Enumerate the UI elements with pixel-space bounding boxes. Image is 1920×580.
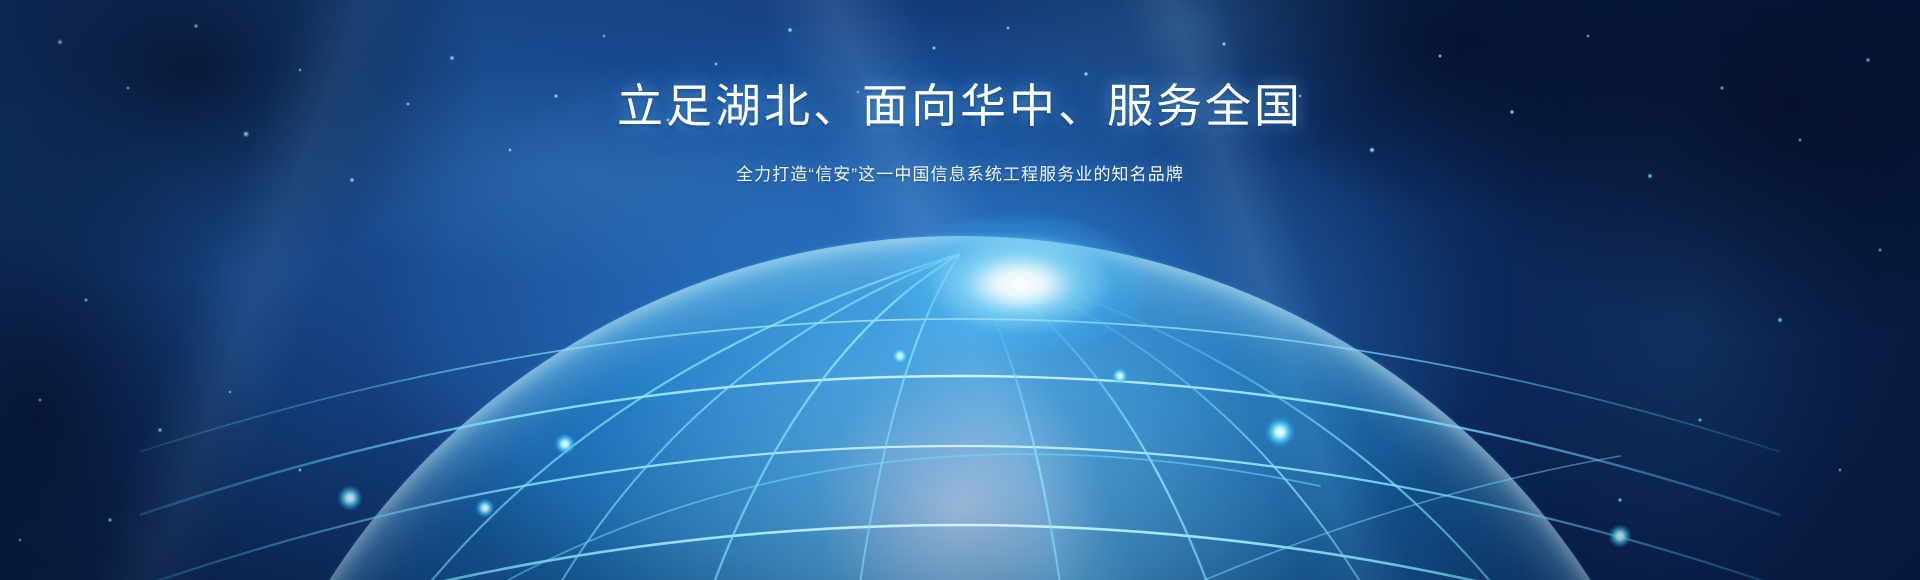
light-burst — [890, 214, 1150, 354]
banner-headline: 立足湖北、面向华中、服务全国 — [0, 78, 1920, 136]
network-arc — [140, 446, 1780, 580]
network-node — [554, 433, 576, 455]
network-arc — [400, 456, 1620, 580]
network-node — [1608, 524, 1632, 548]
network-node — [891, 347, 909, 365]
network-node — [337, 485, 363, 511]
network-node — [475, 498, 495, 518]
network-node-group — [189, 347, 1773, 580]
network-node — [1264, 416, 1296, 448]
network-arc — [140, 525, 1780, 580]
network-node — [1111, 367, 1129, 385]
latitude-arc-group — [140, 319, 1780, 580]
banner-copy: 立足湖北、面向华中、服务全国 全力打造“信安”这一中国信息系统工程服务业的知名品… — [0, 78, 1920, 185]
connection-arc-group — [140, 454, 1760, 580]
network-arc — [200, 254, 960, 580]
hero-banner: 立足湖北、面向华中、服务全国 全力打造“信安”这一中国信息系统工程服务业的知名品… — [0, 0, 1920, 580]
banner-subheadline: 全力打造“信安”这一中国信息系统工程服务业的知名品牌 — [0, 160, 1920, 185]
network-arc — [260, 454, 1320, 580]
network-globe — [140, 236, 1780, 580]
